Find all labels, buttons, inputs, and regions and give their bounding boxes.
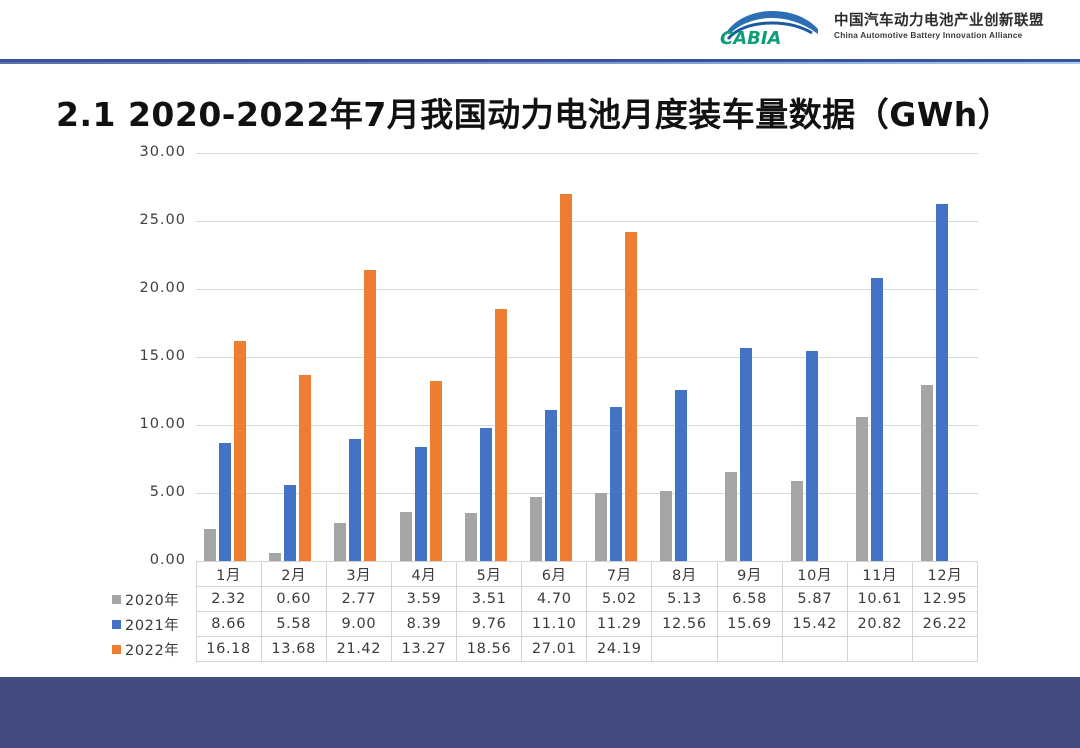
cabia-wordmark: CABIA — [720, 28, 782, 47]
table-cell: 8.66 — [196, 612, 261, 637]
y-axis-tick-label: 25.00 — [106, 212, 186, 228]
bar-2022年-1月[interactable] — [234, 341, 246, 561]
bar-group — [522, 153, 587, 561]
slide-footer — [0, 677, 1080, 748]
bar-cluster — [530, 153, 572, 561]
table-cell: 24.19 — [587, 637, 652, 662]
bar-group — [783, 153, 848, 561]
bar-cluster — [660, 153, 702, 561]
table-cell: 0.60 — [261, 587, 326, 612]
bar-group — [652, 153, 717, 561]
table-corner-cell — [110, 562, 196, 587]
bar-2022年-6月[interactable] — [560, 194, 572, 561]
bar-2020年-10月[interactable] — [791, 481, 803, 561]
y-axis-tick-label: 5.00 — [106, 484, 186, 500]
bar-2020年-2月[interactable] — [269, 553, 281, 561]
bar-2021年-12月[interactable] — [936, 204, 948, 561]
table-cell: 3.59 — [391, 587, 456, 612]
table-cell: 12.95 — [912, 587, 977, 612]
bar-groups — [196, 153, 978, 561]
table-cell: 27.01 — [522, 637, 587, 662]
slide-header: CABIA 中国汽车动力电池产业创新联盟 China Automotive Ba… — [0, 0, 1080, 62]
bar-2021年-6月[interactable] — [545, 410, 557, 561]
table-column-header: 1月 — [196, 562, 261, 587]
table-row: 2020年2.320.602.773.593.514.705.025.136.5… — [110, 587, 978, 612]
bar-2021年-11月[interactable] — [871, 278, 883, 561]
bar-group — [326, 153, 391, 561]
bar-2020年-12月[interactable] — [921, 385, 933, 561]
bar-cluster — [269, 153, 311, 561]
table-cell: 11.10 — [522, 612, 587, 637]
data-table: 1月2月3月4月5月6月7月8月9月10月11月12月2020年2.320.60… — [110, 561, 978, 662]
table-column-header: 7月 — [587, 562, 652, 587]
bar-cluster — [400, 153, 442, 561]
table-row: 2022年16.1813.6821.4213.2718.5627.0124.19 — [110, 637, 978, 662]
header-divider-accent — [0, 62, 1080, 64]
table-cell: 13.68 — [261, 637, 326, 662]
bar-2020年-8月[interactable] — [660, 491, 672, 561]
table-cell: 18.56 — [457, 637, 522, 662]
table-column-header: 4月 — [391, 562, 456, 587]
bar-group — [587, 153, 652, 561]
cabia-logo-icon: CABIA — [714, 7, 824, 47]
bar-cluster — [204, 153, 246, 561]
legend-swatch-icon — [112, 620, 121, 629]
legend-swatch-icon — [112, 595, 121, 604]
bar-group — [717, 153, 782, 561]
table-cell — [652, 637, 717, 662]
logo-english-name: China Automotive Battery Innovation Alli… — [834, 31, 1044, 41]
bar-cluster — [791, 153, 833, 561]
legend-label: 2022年 — [125, 639, 179, 660]
table-cell — [912, 637, 977, 662]
table-column-header: 8月 — [652, 562, 717, 587]
table-cell: 3.51 — [457, 587, 522, 612]
bar-2021年-4月[interactable] — [415, 447, 427, 561]
y-axis-tick-label: 30.00 — [106, 144, 186, 160]
bar-2022年-7月[interactable] — [625, 232, 637, 561]
bar-2020年-1月[interactable] — [204, 529, 216, 561]
bar-group — [261, 153, 326, 561]
table-cell: 9.00 — [326, 612, 391, 637]
bar-group — [848, 153, 913, 561]
legend-item-2021年[interactable]: 2021年 — [110, 612, 196, 637]
bar-cluster — [856, 153, 898, 561]
bar-2021年-5月[interactable] — [480, 428, 492, 561]
bar-2020年-7月[interactable] — [595, 493, 607, 561]
bar-2021年-10月[interactable] — [806, 351, 818, 561]
bar-cluster — [921, 153, 963, 561]
table-cell — [717, 637, 782, 662]
bar-group — [913, 153, 978, 561]
table-row: 2021年8.665.589.008.399.7611.1011.2912.56… — [110, 612, 978, 637]
table-cell: 16.18 — [196, 637, 261, 662]
table-cell — [847, 637, 912, 662]
table-cell: 26.22 — [912, 612, 977, 637]
bar-group — [392, 153, 457, 561]
bar-2020年-9月[interactable] — [725, 472, 737, 561]
bar-2021年-9月[interactable] — [740, 348, 752, 561]
bar-2022年-4月[interactable] — [430, 381, 442, 561]
bar-2020年-4月[interactable] — [400, 512, 412, 561]
table-cell: 11.29 — [587, 612, 652, 637]
table-cell: 13.27 — [391, 637, 456, 662]
table-column-header: 6月 — [522, 562, 587, 587]
bar-2020年-11月[interactable] — [856, 417, 868, 561]
table-header-row: 1月2月3月4月5月6月7月8月9月10月11月12月 — [110, 562, 978, 587]
bar-2021年-3月[interactable] — [349, 439, 361, 561]
table-cell: 5.58 — [261, 612, 326, 637]
bar-group — [457, 153, 522, 561]
bar-chart: 0.005.0010.0015.0020.0025.0030.00 — [110, 145, 990, 570]
table-column-header: 12月 — [912, 562, 977, 587]
bar-2021年-1月[interactable] — [219, 443, 231, 561]
slide: CABIA 中国汽车动力电池产业创新联盟 China Automotive Ba… — [0, 0, 1080, 748]
table-cell: 9.76 — [457, 612, 522, 637]
bar-cluster — [334, 153, 376, 561]
bar-group — [196, 153, 261, 561]
bar-2022年-2月[interactable] — [299, 375, 311, 561]
table-column-header: 2月 — [261, 562, 326, 587]
table-cell: 21.42 — [326, 637, 391, 662]
table-cell: 15.69 — [717, 612, 782, 637]
table-cell — [782, 637, 847, 662]
logo-chinese-name: 中国汽车动力电池产业创新联盟 — [834, 13, 1044, 30]
bar-2022年-3月[interactable] — [364, 270, 376, 561]
table-cell: 5.87 — [782, 587, 847, 612]
table-cell: 5.13 — [652, 587, 717, 612]
table-cell: 5.02 — [587, 587, 652, 612]
y-axis-tick-label: 15.00 — [106, 348, 186, 364]
logo-text-block: 中国汽车动力电池产业创新联盟 China Automotive Battery … — [834, 13, 1044, 42]
bar-2020年-5月[interactable] — [465, 513, 477, 561]
cabia-logo: CABIA 中国汽车动力电池产业创新联盟 China Automotive Ba… — [714, 7, 1044, 47]
table-column-header: 3月 — [326, 562, 391, 587]
table-cell: 10.61 — [847, 587, 912, 612]
legend-label: 2021年 — [125, 614, 179, 635]
table-cell: 4.70 — [522, 587, 587, 612]
legend-item-2022年[interactable]: 2022年 — [110, 637, 196, 662]
bar-cluster — [465, 153, 507, 561]
bar-2021年-2月[interactable] — [284, 485, 296, 561]
bar-2020年-6月[interactable] — [530, 497, 542, 561]
bar-cluster — [725, 153, 767, 561]
bar-2021年-8月[interactable] — [675, 390, 687, 561]
table-cell: 2.77 — [326, 587, 391, 612]
table-column-header: 10月 — [782, 562, 847, 587]
legend-item-2020年[interactable]: 2020年 — [110, 587, 196, 612]
legend-swatch-icon — [112, 645, 121, 654]
y-axis-tick-label: 20.00 — [106, 280, 186, 296]
table-cell: 20.82 — [847, 612, 912, 637]
table-column-header: 11月 — [847, 562, 912, 587]
bar-2021年-7月[interactable] — [610, 407, 622, 561]
y-axis-tick-label: 10.00 — [106, 416, 186, 432]
table-cell: 2.32 — [196, 587, 261, 612]
table-cell: 6.58 — [717, 587, 782, 612]
table-column-header: 5月 — [457, 562, 522, 587]
bar-cluster — [595, 153, 637, 561]
table-cell: 8.39 — [391, 612, 456, 637]
table-column-header: 9月 — [717, 562, 782, 587]
page-title: 2.1 2020-2022年7月我国动力电池月度装车量数据（GWh） — [56, 88, 1011, 136]
table-cell: 12.56 — [652, 612, 717, 637]
table-cell: 15.42 — [782, 612, 847, 637]
plot-area — [196, 153, 978, 561]
bar-2020年-3月[interactable] — [334, 523, 346, 561]
bar-2022年-5月[interactable] — [495, 309, 507, 561]
legend-label: 2020年 — [125, 589, 179, 610]
